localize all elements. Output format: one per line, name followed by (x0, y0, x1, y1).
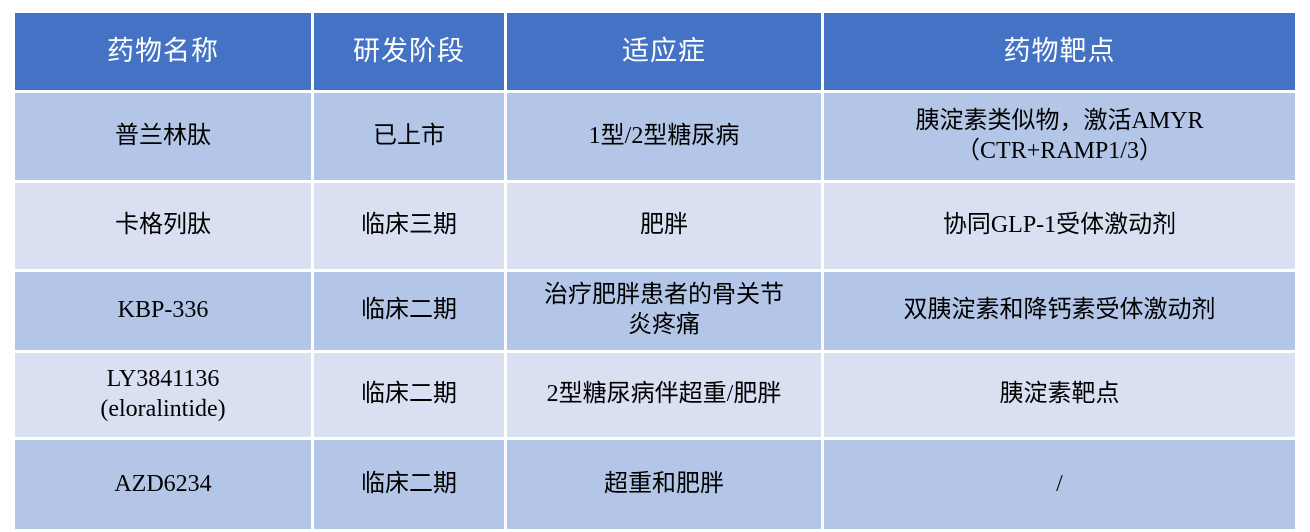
drug-name-text: AZD6234 (23, 470, 303, 500)
cell-drug-name: KBP-336 (15, 272, 311, 350)
table-row: 卡格列肽 临床三期 肥胖 协同GLP-1受体激动剂 (15, 183, 1295, 269)
cell-indication: 2型糖尿病伴超重/肥胖 (507, 353, 821, 437)
indication-text: 1型/2型糖尿病 (515, 122, 813, 152)
cell-drug-target: 双胰淀素和降钙素受体激动剂 (824, 272, 1295, 350)
cell-drug-target: 胰淀素类似物，激活AMYR （CTR+RAMP1/3） (824, 93, 1295, 180)
table-row: LY3841136 (eloralintide) 临床二期 2型糖尿病伴超重/肥… (15, 353, 1295, 437)
drug-target-text-line2: （CTR+RAMP1/3） (832, 137, 1287, 167)
cell-development-phase: 临床三期 (314, 183, 504, 269)
drug-pipeline-table: 药物名称 研发阶段 适应症 药物靶点 普兰林肽 已上市 1型/2型糖尿病 胰淀素… (12, 10, 1298, 532)
cell-development-phase: 临床二期 (314, 353, 504, 437)
cell-drug-name: 普兰林肽 (15, 93, 311, 180)
drug-target-text: 协同GLP-1受体激动剂 (832, 211, 1287, 241)
cell-indication: 治疗肥胖患者的骨关节 炎疼痛 (507, 272, 821, 350)
table-row: AZD6234 临床二期 超重和肥胖 / (15, 440, 1295, 529)
drug-name-text: LY3841136 (23, 365, 303, 395)
cell-indication: 肥胖 (507, 183, 821, 269)
drug-name-text: 卡格列肽 (23, 211, 303, 241)
table-row: 普兰林肽 已上市 1型/2型糖尿病 胰淀素类似物，激活AMYR （CTR+RAM… (15, 93, 1295, 180)
column-header-drug-target: 药物靶点 (824, 13, 1295, 90)
table-header: 药物名称 研发阶段 适应症 药物靶点 (15, 13, 1295, 90)
cell-indication: 超重和肥胖 (507, 440, 821, 529)
column-header-indication: 适应症 (507, 13, 821, 90)
cell-drug-name: LY3841136 (eloralintide) (15, 353, 311, 437)
header-row: 药物名称 研发阶段 适应症 药物靶点 (15, 13, 1295, 90)
indication-text: 肥胖 (515, 211, 813, 241)
indication-text: 治疗肥胖患者的骨关节 (515, 281, 813, 311)
table-row: KBP-336 临床二期 治疗肥胖患者的骨关节 炎疼痛 双胰淀素和降钙素受体激动… (15, 272, 1295, 350)
cell-development-phase: 临床二期 (314, 440, 504, 529)
table-body: 普兰林肽 已上市 1型/2型糖尿病 胰淀素类似物，激活AMYR （CTR+RAM… (15, 93, 1295, 529)
drug-target-text: 胰淀素类似物，激活AMYR (832, 107, 1287, 137)
drug-name-text: 普兰林肽 (23, 122, 303, 152)
column-header-development-phase: 研发阶段 (314, 13, 504, 90)
column-header-drug-name: 药物名称 (15, 13, 311, 90)
cell-drug-target: / (824, 440, 1295, 529)
drug-pipeline-table-container: 药物名称 研发阶段 适应症 药物靶点 普兰林肽 已上市 1型/2型糖尿病 胰淀素… (15, 13, 1295, 495)
cell-drug-target: 协同GLP-1受体激动剂 (824, 183, 1295, 269)
indication-text: 2型糖尿病伴超重/肥胖 (515, 380, 813, 410)
drug-target-text: 双胰淀素和降钙素受体激动剂 (832, 296, 1287, 326)
indication-text-line2: 炎疼痛 (515, 311, 813, 341)
drug-target-text: / (832, 470, 1287, 500)
cell-development-phase: 临床二期 (314, 272, 504, 350)
drug-name-text-line2: (eloralintide) (23, 395, 303, 425)
indication-text: 超重和肥胖 (515, 470, 813, 500)
cell-drug-name: 卡格列肽 (15, 183, 311, 269)
cell-drug-target: 胰淀素靶点 (824, 353, 1295, 437)
cell-drug-name: AZD6234 (15, 440, 311, 529)
cell-indication: 1型/2型糖尿病 (507, 93, 821, 180)
drug-name-text: KBP-336 (23, 296, 303, 326)
cell-development-phase: 已上市 (314, 93, 504, 180)
drug-target-text: 胰淀素靶点 (832, 380, 1287, 410)
